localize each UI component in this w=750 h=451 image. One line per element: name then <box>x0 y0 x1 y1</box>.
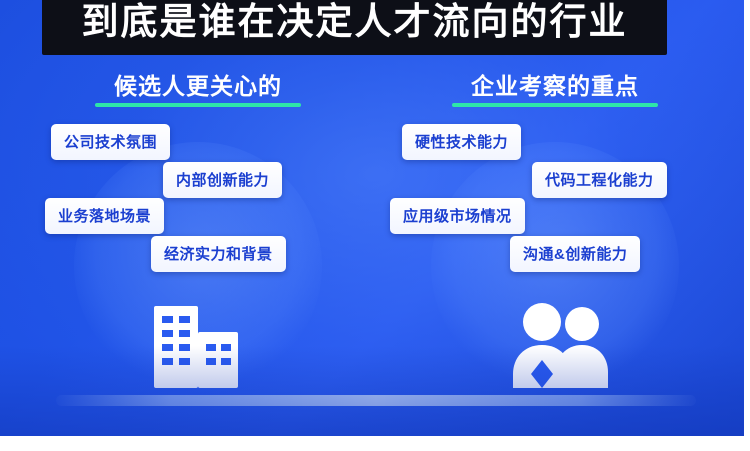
tag-group-right: 硬性技术能力 代码工程化能力 应用级市场情况 沟通&创新能力 <box>390 124 720 304</box>
column-enterprise: 企业考察的重点 硬性技术能力 代码工程化能力 应用级市场情况 沟通&创新能力 <box>390 70 720 420</box>
column-heading-left: 候选人更关心的 <box>33 70 363 104</box>
banner-title: 到底是谁在决定人才流向的行业 <box>42 0 667 50</box>
tag-chip[interactable]: 内部创新能力 <box>163 162 282 198</box>
building-icon <box>128 298 268 398</box>
base-bar <box>56 395 696 406</box>
tag-chip[interactable]: 硬性技术能力 <box>402 124 521 160</box>
right-edge-strip <box>744 0 750 436</box>
column-heading-left-text: 候选人更关心的 <box>114 73 282 99</box>
column-heading-right: 企业考察的重点 <box>390 70 720 104</box>
tag-chip[interactable]: 沟通&创新能力 <box>510 236 640 272</box>
title-band: 到底是谁在决定人才流向的行业 <box>42 0 667 55</box>
heading-underline-left <box>95 103 301 107</box>
tag-chip[interactable]: 代码工程化能力 <box>532 162 667 198</box>
column-heading-right-text: 企业考察的重点 <box>471 73 639 99</box>
tag-chip[interactable]: 经济实力和背景 <box>151 236 286 272</box>
tag-chip[interactable]: 公司技术氛围 <box>51 124 170 160</box>
heading-underline-right <box>452 103 658 107</box>
tag-chip[interactable]: 业务落地场景 <box>45 198 164 234</box>
column-candidate: 候选人更关心的 公司技术氛围 内部创新能力 业务落地场景 经济实力和背景 <box>33 70 363 420</box>
tag-group-left: 公司技术氛围 内部创新能力 业务落地场景 经济实力和背景 <box>33 124 363 304</box>
tag-chip[interactable]: 应用级市场情况 <box>390 198 525 234</box>
slide-root: 到底是谁在决定人才流向的行业 候选人更关心的 公司技术氛围 内部创新能力 业务落… <box>0 0 750 451</box>
blue-panel: 到底是谁在决定人才流向的行业 候选人更关心的 公司技术氛围 内部创新能力 业务落… <box>0 0 750 436</box>
people-icon <box>485 298 625 398</box>
